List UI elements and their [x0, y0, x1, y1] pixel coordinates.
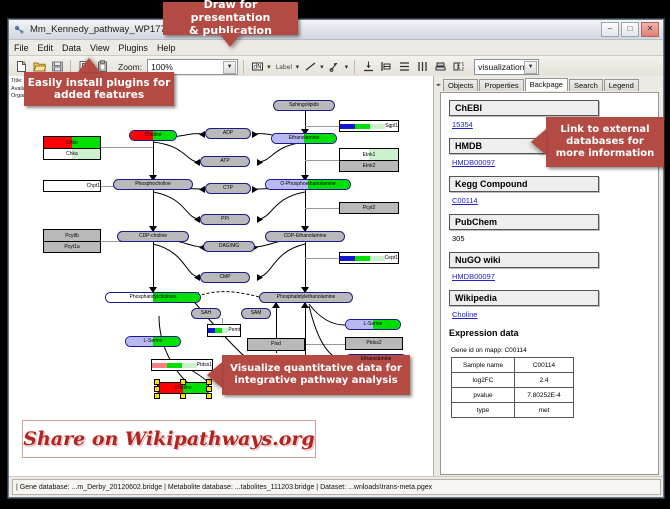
- node-label: CDP-Ethanolamine: [284, 234, 327, 239]
- metabolite-node-sphingolipids[interactable]: Sphingolipids: [273, 100, 335, 111]
- tab-legend[interactable]: Legend: [604, 79, 639, 91]
- window-titlebar: Mm_Kennedy_pathway_WP1771_45176.gpml – □…: [9, 20, 663, 40]
- node-label: Chkb: [66, 140, 78, 146]
- node-label: Etnk2: [363, 163, 376, 169]
- visualization-value: visualization: [478, 62, 524, 72]
- node-label: Pcyt2: [363, 206, 376, 211]
- database-header-wikipedia: Wikipedia: [449, 290, 599, 306]
- menu-item-plugins[interactable]: Plugins: [118, 43, 148, 53]
- edge-sgpl1-enzyme: [305, 126, 339, 127]
- pathway-canvas[interactable]: Title: Availa Organ: [9, 76, 434, 477]
- gene-node-chpt1[interactable]: Chpt1: [43, 180, 101, 192]
- table-cell-key: log2FC: [452, 373, 515, 388]
- side-panel-tabs: ◂▸ Objects Properties Backpage Search Le…: [436, 78, 661, 91]
- chevron-down-icon[interactable]: ▼: [223, 61, 236, 74]
- edge-phosphocholine-cdpcholine: [153, 190, 154, 231]
- line-dropdown-icon[interactable]: ▾: [320, 63, 324, 71]
- node-label: ATP: [220, 159, 229, 164]
- node-label: Choline: [175, 386, 192, 391]
- metabolite-node-cmp[interactable]: CMP: [200, 272, 250, 283]
- edge-ptdss2-enzyme: [305, 344, 345, 345]
- status-bar: | Gene database: ...m_Derby_20120602.bri…: [9, 476, 663, 497]
- metabolite-node-ppi[interactable]: PPi: [200, 214, 250, 225]
- node-label: Pcytlb: [65, 233, 79, 239]
- gene-id-line: Gene id on mapp: C00114: [451, 347, 650, 354]
- align-top-tool[interactable]: [360, 59, 376, 75]
- node-label: Ptdss1: [197, 363, 212, 368]
- node-label: CMP: [219, 275, 230, 280]
- edge-sphingo-etnamine: [305, 111, 306, 133]
- expression-data-heading: Expression data: [449, 328, 650, 338]
- callout-plugins: Easily install plugins for added feature…: [24, 72, 174, 106]
- table-row: Sample name C00114: [452, 358, 574, 373]
- status-text: | Gene database: ...m_Derby_20120602.bri…: [12, 479, 661, 495]
- metabolite-node-o-phosphoethanolamine[interactable]: O-Phosphoethanolamine: [265, 179, 351, 190]
- tab-scroll-icon[interactable]: ◂▸: [436, 78, 442, 91]
- table-cell-value: C00114: [515, 358, 574, 373]
- table-cell-value: 2.4: [515, 373, 574, 388]
- edge-ptdetn-serine: [305, 303, 306, 363]
- callout-plugins-arrow-icon: [78, 58, 100, 72]
- gene-stack-etnk[interactable]: Etnk1 Etnk2: [339, 148, 399, 172]
- toolbar-separator-2: [243, 60, 244, 74]
- distribute-horizontal-tool[interactable]: [414, 59, 430, 75]
- metabolite-node-ctp[interactable]: CTP: [205, 183, 251, 194]
- gene-stack-pcyt1[interactable]: Pcytlb Pcyt1a: [43, 229, 101, 253]
- metabolite-node-sam[interactable]: SAM: [241, 308, 271, 319]
- edge-cept1-enzyme: [305, 258, 339, 259]
- edge-ophospho-cdpetn: [305, 190, 306, 231]
- node-label: CDP-choline: [139, 234, 167, 239]
- minimize-button[interactable]: –: [601, 22, 619, 37]
- gene-stack-chk[interactable]: Chkb Chka: [43, 136, 101, 160]
- menu-item-file[interactable]: File: [14, 43, 29, 53]
- database-link-kegg-compound[interactable]: C00114: [452, 196, 650, 205]
- edge-etnk-enzyme: [305, 160, 339, 161]
- zoom-value: 100%: [151, 62, 173, 72]
- node-label: PPi: [221, 217, 229, 222]
- node-label: Pemt: [228, 328, 240, 333]
- table-row: type met: [452, 403, 574, 418]
- menu-item-help[interactable]: Help: [157, 43, 176, 53]
- node-label: L-Serine: [364, 322, 383, 327]
- database-header-chebi: ChEBI: [449, 100, 599, 116]
- node-label: Ethanolamine: [289, 136, 320, 141]
- gene-stack-row[interactable]: Pcyt1a: [44, 241, 100, 252]
- menu-bar: File Edit Data View Plugins Help: [9, 40, 663, 56]
- gene-node-sgpl1[interactable]: Sgpl1: [339, 120, 399, 132]
- tab-search[interactable]: Search: [569, 79, 603, 91]
- metabolite-node-phosphatidylethanolamine[interactable]: Phosphatidylethanolamine: [259, 292, 353, 303]
- share-text: Share on Wikipathways.org: [23, 428, 314, 450]
- maximize-button[interactable]: □: [621, 22, 639, 37]
- node-label: Phosphatidylethanolamine: [277, 295, 336, 300]
- edge-etnamine-ophospho: [305, 144, 306, 179]
- tab-objects[interactable]: Objects: [443, 79, 478, 91]
- database-value-pubchem: 305: [452, 234, 650, 243]
- node-label: O-Phosphoethanolamine: [280, 182, 335, 187]
- app-icon: [13, 24, 25, 36]
- edge-cdpetn-ptdetn: [305, 242, 306, 292]
- tab-properties[interactable]: Properties: [479, 79, 523, 91]
- menu-item-edit[interactable]: Edit: [38, 43, 54, 53]
- metabolite-node-phosphatidylcholines[interactable]: Phosphatidylcholines: [105, 292, 201, 303]
- database-link-wikipedia[interactable]: Choline: [452, 310, 650, 319]
- zoom-label: Zoom:: [118, 62, 142, 72]
- gene-node-pisd[interactable]: Pisd: [247, 338, 305, 351]
- metabolite-node-atp[interactable]: ATP: [200, 156, 250, 167]
- metabolite-node-ethanolamine[interactable]: Ethanolamine: [271, 133, 337, 144]
- label-dropdown-icon[interactable]: ▾: [296, 63, 300, 71]
- node-label: Etnk1: [363, 152, 376, 158]
- callout-draw-arrow-icon: [219, 33, 241, 47]
- node-label: Chka: [66, 151, 78, 157]
- metabolite-node-phosphocholine[interactable]: Phosphocholine: [113, 179, 193, 190]
- gene-node-ptdss1[interactable]: Ptdss1: [151, 359, 213, 371]
- node-label: Sphingolipids: [289, 103, 319, 108]
- svg-text:Label: Label: [276, 64, 293, 71]
- metabolite-node-adp[interactable]: ADP: [205, 128, 251, 139]
- node-label: L-Serine: [144, 339, 163, 344]
- stack-tool[interactable]: [432, 59, 448, 75]
- gene-node-pemt[interactable]: Pemt: [207, 324, 241, 337]
- gene-stack-row[interactable]: Etnk2: [340, 160, 398, 171]
- table-row: log2FC 2.4: [452, 373, 574, 388]
- callout-share: Share on Wikipathways.org: [22, 420, 316, 458]
- gene-stack-row[interactable]: Chka: [44, 148, 100, 159]
- menu-item-view[interactable]: View: [90, 43, 109, 53]
- database-header-pubchem: PubChem: [449, 214, 599, 230]
- node-label: DAG/MG: [219, 244, 239, 249]
- callout-links-arrow-icon: [531, 129, 546, 155]
- line-tool[interactable]: [302, 59, 318, 75]
- gene-stack-row[interactable]: Etnk1: [340, 149, 398, 160]
- edge-pcyt2-enzyme: [305, 208, 339, 209]
- tab-backpage[interactable]: Backpage: [525, 78, 568, 91]
- visualization-combobox[interactable]: visualization ▼: [474, 59, 539, 75]
- node-label: Sgpl1: [385, 124, 398, 129]
- window-controls: – □ ✕: [601, 22, 659, 37]
- metabolite-node-sah[interactable]: SAH: [191, 308, 221, 319]
- node-label: Cept1: [385, 256, 398, 261]
- edge-choline-phosphocholine: [153, 141, 154, 179]
- node-label: Ptdss2: [366, 341, 381, 346]
- gene-stack-row[interactable]: Pcytlb: [44, 230, 100, 241]
- database-link-nugo-wiki[interactable]: HMDB00097: [452, 272, 650, 281]
- menu-item-data[interactable]: Data: [62, 43, 81, 53]
- table-row: pvalue 7.80252E-4: [452, 388, 574, 403]
- group-tool[interactable]: [450, 59, 466, 75]
- expression-data-table: Sample name C00114 log2FC 2.4 pvalue 7.8…: [451, 357, 574, 418]
- screenshot-root: Mm_Kennedy_pathway_WP1771_45176.gpml – □…: [0, 0, 670, 509]
- label-tool[interactable]: Label: [274, 59, 294, 75]
- table-cell-value: met: [515, 403, 574, 418]
- close-button[interactable]: ✕: [641, 22, 659, 37]
- node-label: Phosphatidylcholines: [130, 295, 177, 300]
- align-left-tool[interactable]: [378, 59, 394, 75]
- database-header-nugo-wiki: NuGO wiki: [449, 252, 599, 268]
- node-label: ADP: [223, 131, 233, 136]
- metabolite-node-choline[interactable]: Choline: [129, 130, 177, 141]
- gene-stack-row[interactable]: Chkb: [44, 137, 100, 148]
- metabolite-node-cdp-choline[interactable]: CDP-choline: [117, 231, 189, 242]
- metabolite-node-cdp-ethanolamine[interactable]: CDP-Ethanolamine: [265, 231, 345, 242]
- callout-draw: Draw for presentation & publication: [163, 2, 298, 35]
- data-node-dropdown-icon[interactable]: ▾: [267, 63, 271, 71]
- node-label: Pisd: [271, 342, 281, 347]
- node-label: CTP: [223, 186, 233, 191]
- gene-node-cept1[interactable]: Cept1: [339, 252, 399, 264]
- distribute-vertical-tool[interactable]: [396, 59, 412, 75]
- anchor-tool[interactable]: [327, 59, 343, 75]
- table-cell-value: 7.80252E-4: [515, 388, 574, 403]
- node-label: Ethanolamine: [361, 357, 392, 362]
- callout-links: Link to external databases for more info…: [546, 117, 664, 167]
- node-label: SAM: [251, 311, 262, 316]
- edge-chk-enzyme: [99, 147, 153, 148]
- node-label: SAH: [201, 311, 211, 316]
- metabolite-node-dag-mg[interactable]: DAG/MG: [203, 241, 255, 252]
- table-cell-key: type: [452, 403, 515, 418]
- database-header-kegg-compound: Kegg Compound: [449, 176, 599, 192]
- toolbar-separator-3: [354, 60, 355, 74]
- data-node-tool[interactable]: dN: [249, 59, 265, 75]
- node-label: Pcyt1a: [64, 244, 79, 250]
- node-label: Chpt1: [87, 184, 100, 189]
- table-cell-key: pvalue: [452, 388, 515, 403]
- gene-node-pcyt2[interactable]: Pcyt2: [339, 202, 399, 214]
- node-label: Phosphocholine: [135, 182, 171, 187]
- table-cell-key: Sample name: [452, 358, 515, 373]
- node-label: Choline: [145, 133, 162, 138]
- metabolite-node-l-serine-left[interactable]: L-Serine: [125, 336, 181, 347]
- svg-text:dN: dN: [253, 64, 261, 71]
- gene-node-ptdss2[interactable]: Ptdss2: [345, 337, 403, 350]
- anchor-dropdown-icon[interactable]: ▾: [345, 63, 349, 71]
- visualization-chevron-down-icon[interactable]: ▼: [524, 61, 537, 74]
- metabolite-node-l-serine-right[interactable]: L-Serine: [345, 319, 401, 330]
- edge-cdpcholine-ptdcholine: [153, 242, 154, 292]
